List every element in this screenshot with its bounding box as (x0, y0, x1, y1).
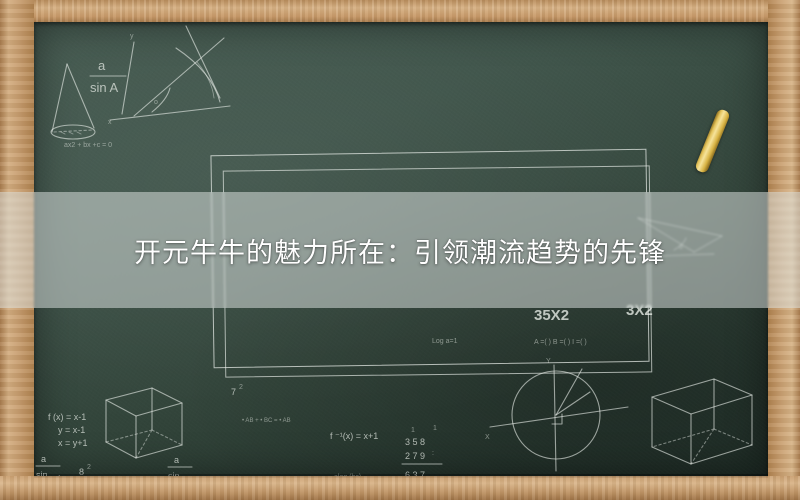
inverse-function: f ⁻¹(x) = x+1 (330, 431, 378, 441)
svg-text:X: X (485, 434, 490, 441)
chalk-tray (34, 474, 768, 478)
frame-top-rail (0, 0, 800, 22)
page-title: 开元牛牛的魅力所在：引领潮流趋势的先锋 (0, 192, 800, 308)
exponent-7-squared: 7 2 (231, 384, 243, 397)
fraction-a-sinA-center: a sin A (168, 455, 194, 476)
svg-text:x: x (108, 119, 112, 126)
svg-text:2 7 9: 2 7 9 (405, 451, 425, 461)
screenshot-root: a sin A y x o ax2 (0, 0, 800, 500)
cone-diagram (51, 64, 95, 139)
svg-text:o: o (154, 99, 158, 106)
fraction-a-sinA-topleft: a sin A (90, 58, 126, 95)
cube-wireframe-right (652, 379, 752, 464)
svg-text:x = y+1: x = y+1 (58, 438, 88, 448)
svg-text:2: 2 (239, 384, 243, 391)
fraction-a-sinA-bottomleft: a sin A (36, 454, 62, 476)
svg-text:2: 2 (87, 464, 91, 471)
cube-wireframe-center (106, 388, 182, 458)
svg-text:1: 1 (433, 425, 437, 432)
svg-text:3 5 8: 3 5 8 (405, 437, 425, 447)
svg-text:1: 1 (411, 427, 415, 434)
svg-text:sin A: sin A (90, 80, 119, 95)
svg-text:a: a (41, 454, 46, 464)
svg-text:7: 7 (231, 387, 236, 397)
circle-axis-diagram: Y X (485, 358, 628, 471)
svg-text:a: a (174, 455, 179, 465)
small-vector-equation: • AB + • BC = • AB (242, 418, 291, 424)
svg-text:y = x-1: y = x-1 (58, 425, 85, 435)
quadratic-equation: ax2 + bx +c = 0 (64, 142, 112, 149)
frame-bottom-rail (0, 476, 800, 500)
svg-text:a: a (98, 58, 106, 73)
vertical-addition: 1 1 3 5 8 2 7 9 : 6 3 7 (402, 425, 442, 476)
svg-text:y: y (130, 33, 134, 40)
svg-text:f (x) = x-1: f (x) = x-1 (48, 412, 86, 422)
function-equations: f (x) = x-1 y = x-1 x = y+1 (48, 412, 88, 448)
svg-text::: : (432, 450, 434, 457)
